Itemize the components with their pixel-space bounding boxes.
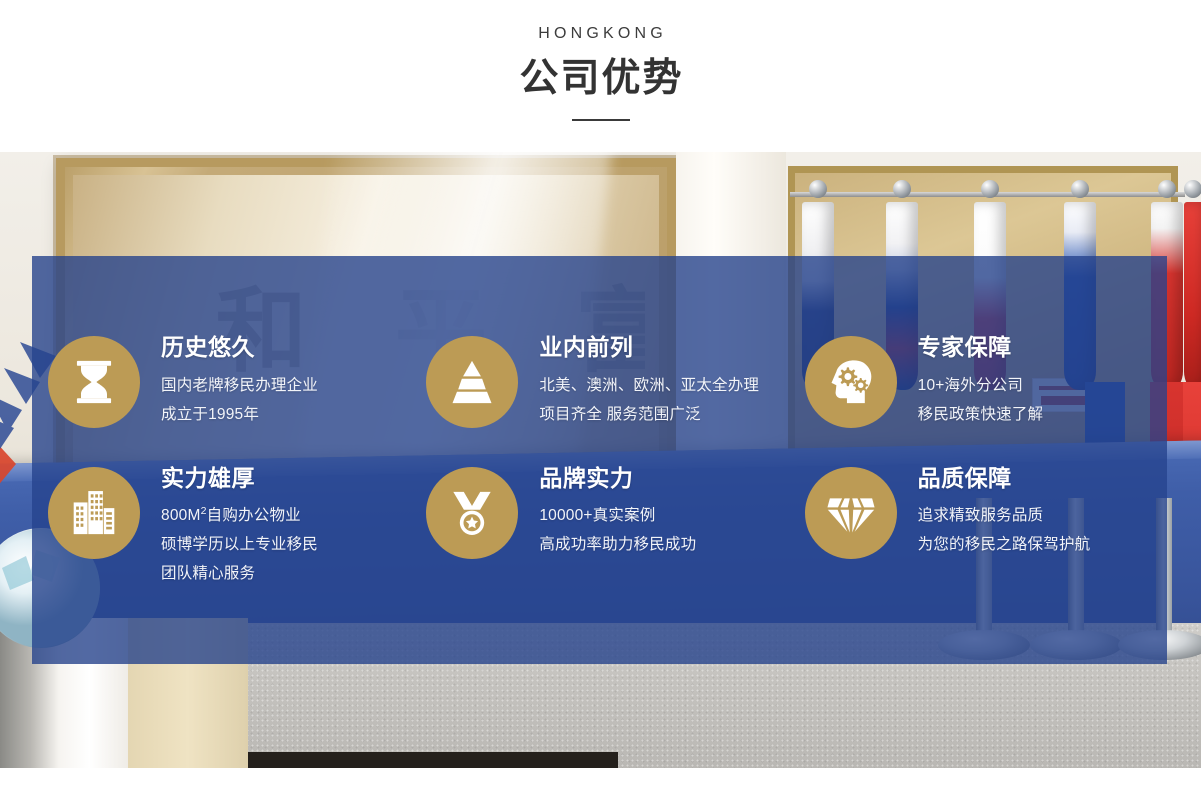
flag-knob-icon: [1071, 180, 1089, 198]
advantage-item-expert[interactable]: 专家保障 10+海外分公司 移民政策快速了解: [789, 296, 1167, 465]
advantage-line: 成立于1995年: [161, 400, 318, 429]
advantage-text: 品质保障 追求精致服务品质 为您的移民之路保驾护航: [918, 465, 1091, 559]
title-divider: [572, 119, 630, 121]
advantage-text: 业内前列 北美、澳洲、欧洲、亚太全办理 项目齐全 服务范围广泛: [539, 332, 759, 429]
advantage-item-industry-leading[interactable]: 业内前列 北美、澳洲、欧洲、亚太全办理 项目齐全 服务范围广泛: [410, 296, 788, 465]
flag-knob-icon: [981, 180, 999, 198]
advantage-text: 专家保障 10+海外分公司 移民政策快速了解: [918, 332, 1044, 429]
advantage-line: 10000+真实案例: [539, 501, 696, 530]
advantages-panel: 历史悠久 国内老牌移民办理企业 成立于1995年 业内前列 北美、澳洲、欧洲、亚…: [32, 256, 1167, 664]
advantage-line: 追求精致服务品质: [918, 501, 1091, 530]
flag-hongkong: [1178, 196, 1201, 391]
advantage-title: 业内前列: [539, 334, 759, 361]
advantage-item-strength[interactable]: 实力雄厚 800M2自购办公物业 硕博学历以上专业移民 团队精心服务: [32, 465, 410, 634]
advantage-line: 800M2自购办公物业: [161, 501, 318, 530]
advantage-line: 国内老牌移民办理企业: [161, 371, 318, 400]
advantage-line: 北美、澳洲、欧洲、亚太全办理: [539, 371, 759, 400]
advantages-page: HONGKONG 公司优势 和 平 富 强: [0, 0, 1201, 792]
flag-knob-icon: [893, 180, 911, 198]
hourglass-icon: [68, 356, 120, 408]
flag-knob-icon: [809, 180, 827, 198]
page-kicker: HONGKONG: [534, 26, 667, 42]
page-header: HONGKONG 公司优势: [0, 0, 1201, 152]
advantage-title: 品质保障: [918, 465, 1091, 492]
pyramid-icon: [446, 356, 498, 408]
medal-badge: [426, 467, 518, 559]
advantage-title: 历史悠久: [161, 334, 318, 361]
advantage-line: 移民政策快速了解: [918, 400, 1044, 429]
advantage-text: 实力雄厚 800M2自购办公物业 硕博学历以上专业移民 团队精心服务: [161, 465, 318, 589]
advantage-text: 历史悠久 国内老牌移民办理企业 成立于1995年: [161, 332, 318, 429]
diamond-icon: [825, 487, 877, 539]
hourglass-badge: [48, 336, 140, 428]
advantage-line: 硕博学历以上专业移民: [161, 530, 318, 559]
buildings-icon: [68, 487, 120, 539]
advantage-line: 项目齐全 服务范围广泛: [539, 400, 759, 429]
advantage-title: 品牌实力: [539, 465, 696, 492]
medal-icon: [446, 487, 498, 539]
advantage-title: 实力雄厚: [161, 465, 318, 492]
advantage-line: 团队精心服务: [161, 559, 318, 588]
flag-knob-icon: [1184, 180, 1201, 198]
advantages-grid: 历史悠久 国内老牌移民办理企业 成立于1995年 业内前列 北美、澳洲、欧洲、亚…: [32, 256, 1167, 664]
bottom-white-strip: [0, 768, 1201, 792]
advantage-item-history[interactable]: 历史悠久 国内老牌移民办理企业 成立于1995年: [32, 296, 410, 465]
advantage-item-brand[interactable]: 品牌实力 10000+真实案例 高成功率助力移民成功: [410, 465, 788, 634]
advantage-text: 品牌实力 10000+真实案例 高成功率助力移民成功: [539, 465, 696, 559]
head-gears-icon: [825, 356, 877, 408]
advantage-line: 高成功率助力移民成功: [539, 530, 696, 559]
advantage-line: 为您的移民之路保驾护航: [918, 530, 1091, 559]
flag-knob-icon: [1158, 180, 1176, 198]
pyramid-badge: [426, 336, 518, 428]
head-gears-badge: [805, 336, 897, 428]
advantage-item-quality[interactable]: 品质保障 追求精致服务品质 为您的移民之路保驾护航: [789, 465, 1167, 634]
advantage-line: 10+海外分公司: [918, 371, 1044, 400]
diamond-badge: [805, 467, 897, 559]
flag-cloth: [1184, 202, 1201, 390]
buildings-badge: [48, 467, 140, 559]
advantage-title: 专家保障: [918, 334, 1044, 361]
page-title: 公司优势: [517, 57, 683, 101]
